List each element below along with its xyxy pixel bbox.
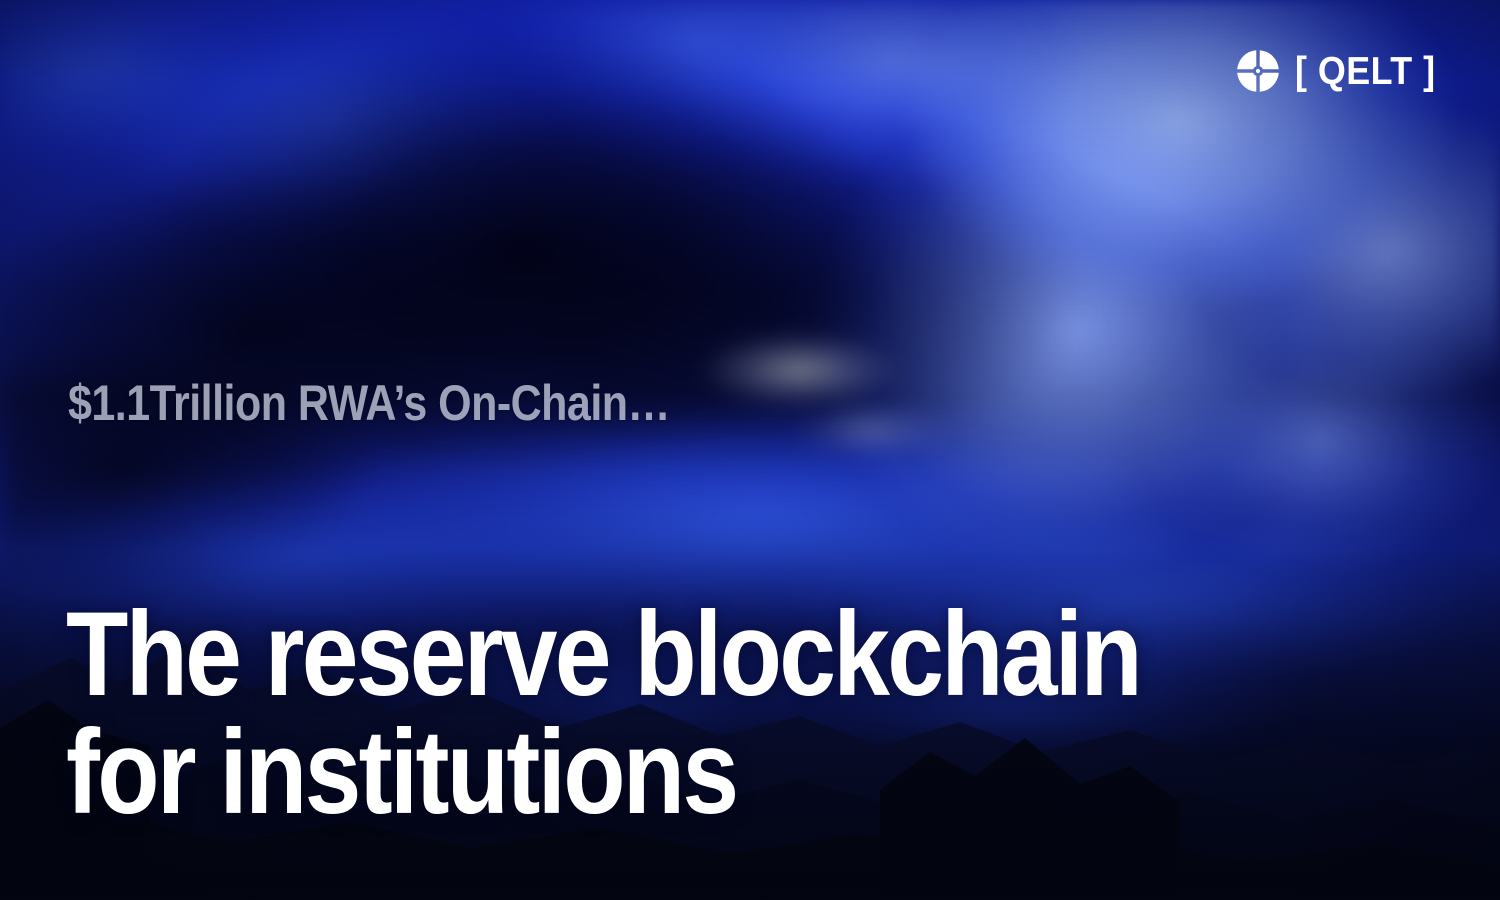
headline-line-1: The reserve blockchain	[66, 596, 1140, 714]
page-title: The reserve blockchain for institutions	[66, 596, 1140, 831]
eyebrow-ticker-text: $1.1Trillion RWA’s On-Chain…	[68, 378, 670, 428]
brand-lockup[interactable]: [ QELT ]	[1235, 48, 1448, 94]
brand-wordmark: [ QELT ]	[1295, 52, 1436, 91]
hero-content: [ QELT ] $1.1Trillion RWA’s On-Chain… Th…	[0, 0, 1500, 900]
qelt-quadrant-circle-icon	[1235, 48, 1281, 94]
headline-line-2: for institutions	[66, 714, 1140, 832]
hero-banner: [ QELT ] $1.1Trillion RWA’s On-Chain… Th…	[0, 0, 1500, 900]
